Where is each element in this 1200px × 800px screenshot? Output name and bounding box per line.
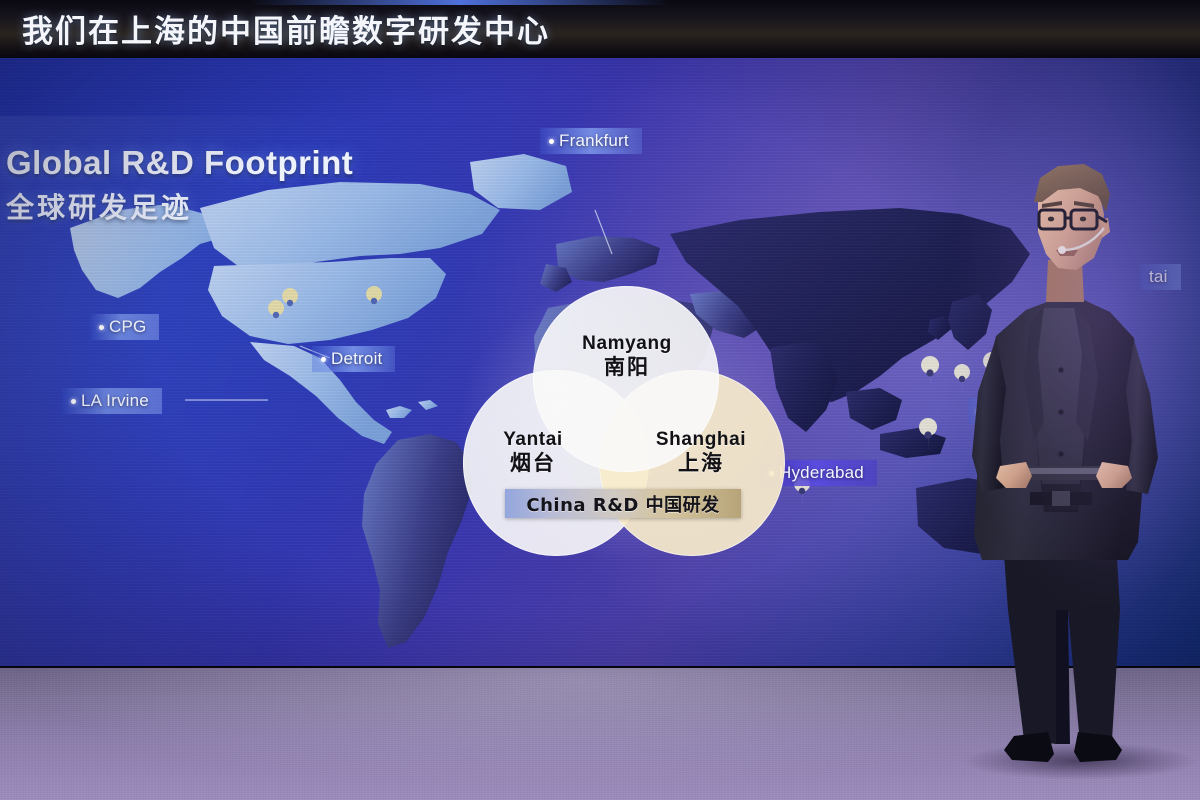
stage-scene: 我们在上海的中国前瞻数字研发中心 — [0, 0, 1200, 800]
banner-glint — [250, 0, 670, 5]
banner-title: 我们在上海的中国前瞻数字研发中心 — [22, 6, 550, 51]
top-banner: 我们在上海的中国前瞻数字研发中心 — [0, 0, 1200, 60]
presenter-person — [952, 140, 1200, 800]
